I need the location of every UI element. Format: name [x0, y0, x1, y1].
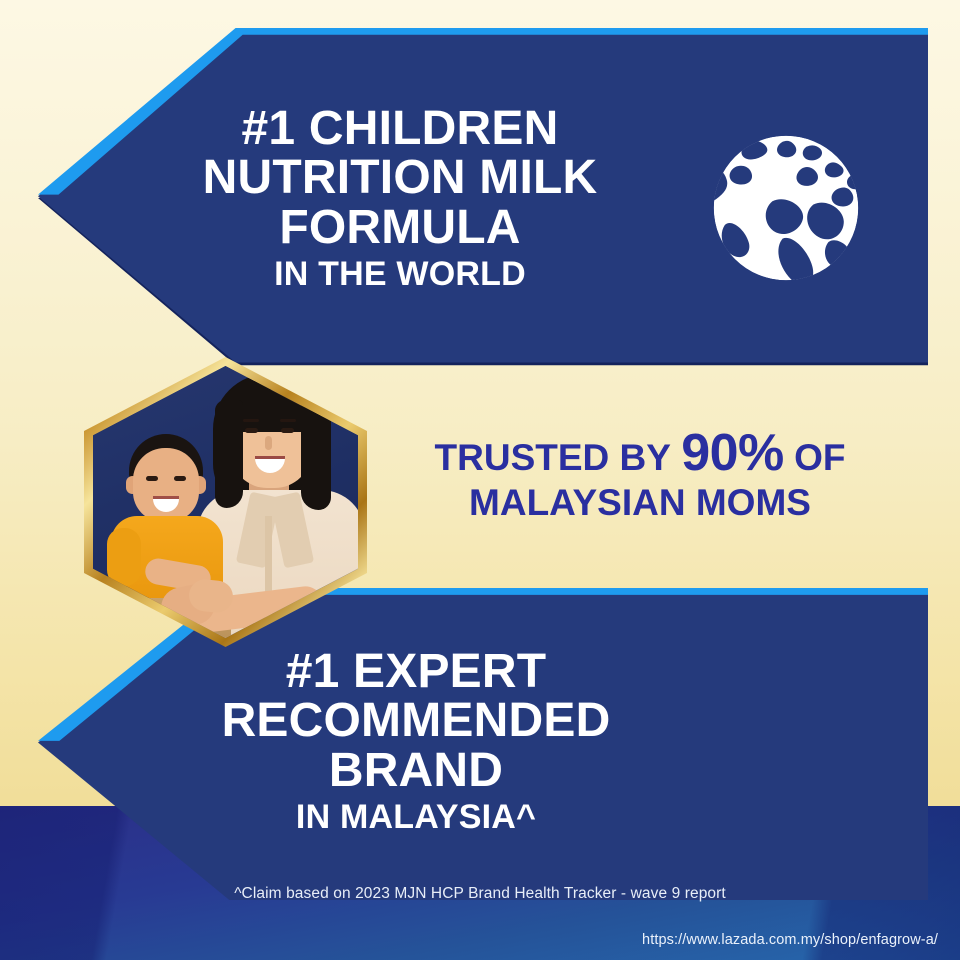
mother-eyebrow-right: [280, 419, 296, 422]
middle-headline-suffix: OF: [794, 437, 845, 478]
bottom-banner-line-2: RECOMMENDED: [206, 696, 626, 745]
mother-eyebrow-left: [243, 419, 259, 422]
middle-headline-line-1: TRUSTED BY 90% OF: [400, 424, 880, 482]
mother-nose: [265, 436, 272, 450]
claim-footnote: ^Claim based on 2023 MJN HCP Brand Healt…: [0, 885, 960, 903]
mother-eye-left: [245, 428, 258, 433]
hexagon-photo-frame: [84, 357, 367, 647]
top-banner-line-2: NUTRITION MILK: [190, 153, 610, 202]
bottom-banner-line-1: #1 EXPERT: [206, 647, 626, 696]
toddler-sleeve: [107, 528, 141, 586]
bottom-banner-text: #1 EXPERT RECOMMENDED BRAND IN MALAYSIA^: [206, 647, 626, 835]
toddler-eye-right: [174, 476, 186, 481]
top-claim-banner: #1 CHILDREN NUTRITION MILK FORMULA IN TH…: [38, 28, 928, 368]
top-banner-line-4: IN THE WORLD: [190, 257, 610, 292]
top-banner-line-1: #1 CHILDREN: [190, 104, 610, 153]
middle-headline-prefix: TRUSTED BY: [435, 437, 671, 478]
bottom-banner-line-3: BRAND: [206, 746, 626, 795]
mother-hair-left: [215, 400, 243, 508]
store-url[interactable]: https://www.lazada.com.my/shop/enfagrow-…: [642, 932, 938, 948]
promotional-poster: #1 CHILDREN NUTRITION MILK FORMULA IN TH…: [0, 0, 960, 960]
middle-headline-percentage: 90%: [681, 424, 784, 482]
bottom-banner-line-4: IN MALAYSIA^: [206, 800, 626, 835]
top-banner-text: #1 CHILDREN NUTRITION MILK FORMULA IN TH…: [190, 104, 610, 292]
globe-icon: [701, 123, 871, 293]
mother-eye-right: [281, 428, 294, 433]
middle-headline-line-2: MALAYSIAN MOMS: [400, 482, 880, 523]
top-banner-line-3: FORMULA: [190, 203, 610, 252]
toddler-eye-left: [146, 476, 158, 481]
middle-headline: TRUSTED BY 90% OF MALAYSIAN MOMS: [400, 424, 880, 524]
